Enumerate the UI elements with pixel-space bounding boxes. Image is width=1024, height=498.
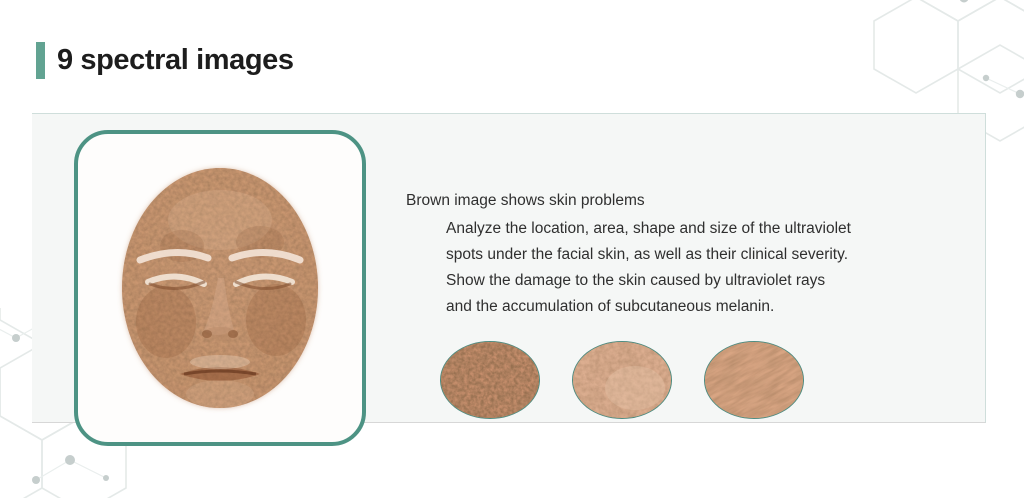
- description-line: and the accumulation of subcutaneous mel…: [446, 294, 946, 320]
- skin-closeup-thumbnail-row: [440, 341, 804, 419]
- skin-closeup-1[interactable]: [440, 341, 540, 419]
- brown-spectral-face-image: [104, 162, 336, 414]
- title-accent-bar: [36, 42, 45, 79]
- description-body: Analyze the location, area, shape and si…: [406, 216, 946, 320]
- main-spectral-image-frame[interactable]: [74, 130, 366, 446]
- description-line: Show the damage to the skin caused by ul…: [446, 268, 946, 294]
- skin-closeup-2[interactable]: [572, 341, 672, 419]
- description-line: Analyze the location, area, shape and si…: [446, 216, 946, 242]
- description-heading: Brown image shows skin problems: [406, 189, 946, 213]
- page-header: 9 spectral images: [36, 38, 294, 82]
- description-line: spots under the facial skin, as well as …: [446, 242, 946, 268]
- page-title: 9 spectral images: [57, 46, 294, 75]
- description-block: Brown image shows skin problems Analyze …: [406, 189, 946, 320]
- skin-closeup-3[interactable]: [704, 341, 804, 419]
